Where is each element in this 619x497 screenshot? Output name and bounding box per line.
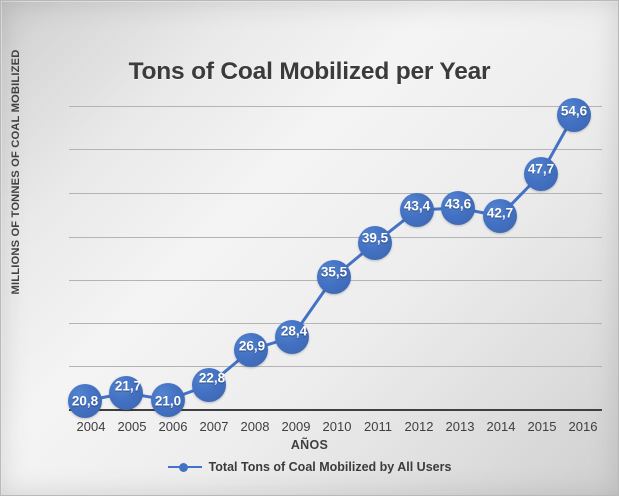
x-axis-tick-2006: 2006 [159,419,188,434]
x-axis-tick-2014: 2014 [487,419,516,434]
data-point-marker[interactable] [68,384,102,418]
x-axis-tick-2007: 2007 [200,419,229,434]
data-point-marker[interactable] [557,98,591,132]
x-axis-tick-2010: 2010 [323,419,352,434]
data-point-marker[interactable] [151,383,185,417]
data-point-marker[interactable] [441,191,475,225]
legend-marker-icon [168,461,202,473]
x-axis-tick-2011: 2011 [364,419,392,434]
x-axis-tick-2008: 2008 [241,419,270,434]
x-axis-tick-2015: 2015 [528,419,557,434]
chart-container: Tons of Coal Mobilized per Year MILLIONS… [0,0,619,496]
x-axis-tick-2005: 2005 [118,419,147,434]
x-axis-tick-2009: 2009 [282,419,311,434]
legend-entry-label: Total Tons of Coal Mobilized by All User… [209,460,452,474]
data-point-marker[interactable] [400,193,434,227]
data-point-marker[interactable] [358,226,392,260]
x-axis-tick-2012: 2012 [405,419,434,434]
x-axis-tick-2004: 2004 [77,419,106,434]
x-axis-title: AÑOS [1,438,618,452]
x-axis-tick-2013: 2013 [446,419,475,434]
data-point-marker[interactable] [483,199,517,233]
data-point-marker[interactable] [192,368,226,402]
data-point-marker[interactable] [275,320,309,354]
data-point-marker[interactable] [234,333,268,367]
chart-legend: Total Tons of Coal Mobilized by All User… [1,460,618,474]
data-point-marker[interactable] [109,376,143,410]
data-point-marker[interactable] [317,260,351,294]
x-axis-tick-2016: 2016 [569,419,598,434]
data-point-marker[interactable] [524,157,558,191]
